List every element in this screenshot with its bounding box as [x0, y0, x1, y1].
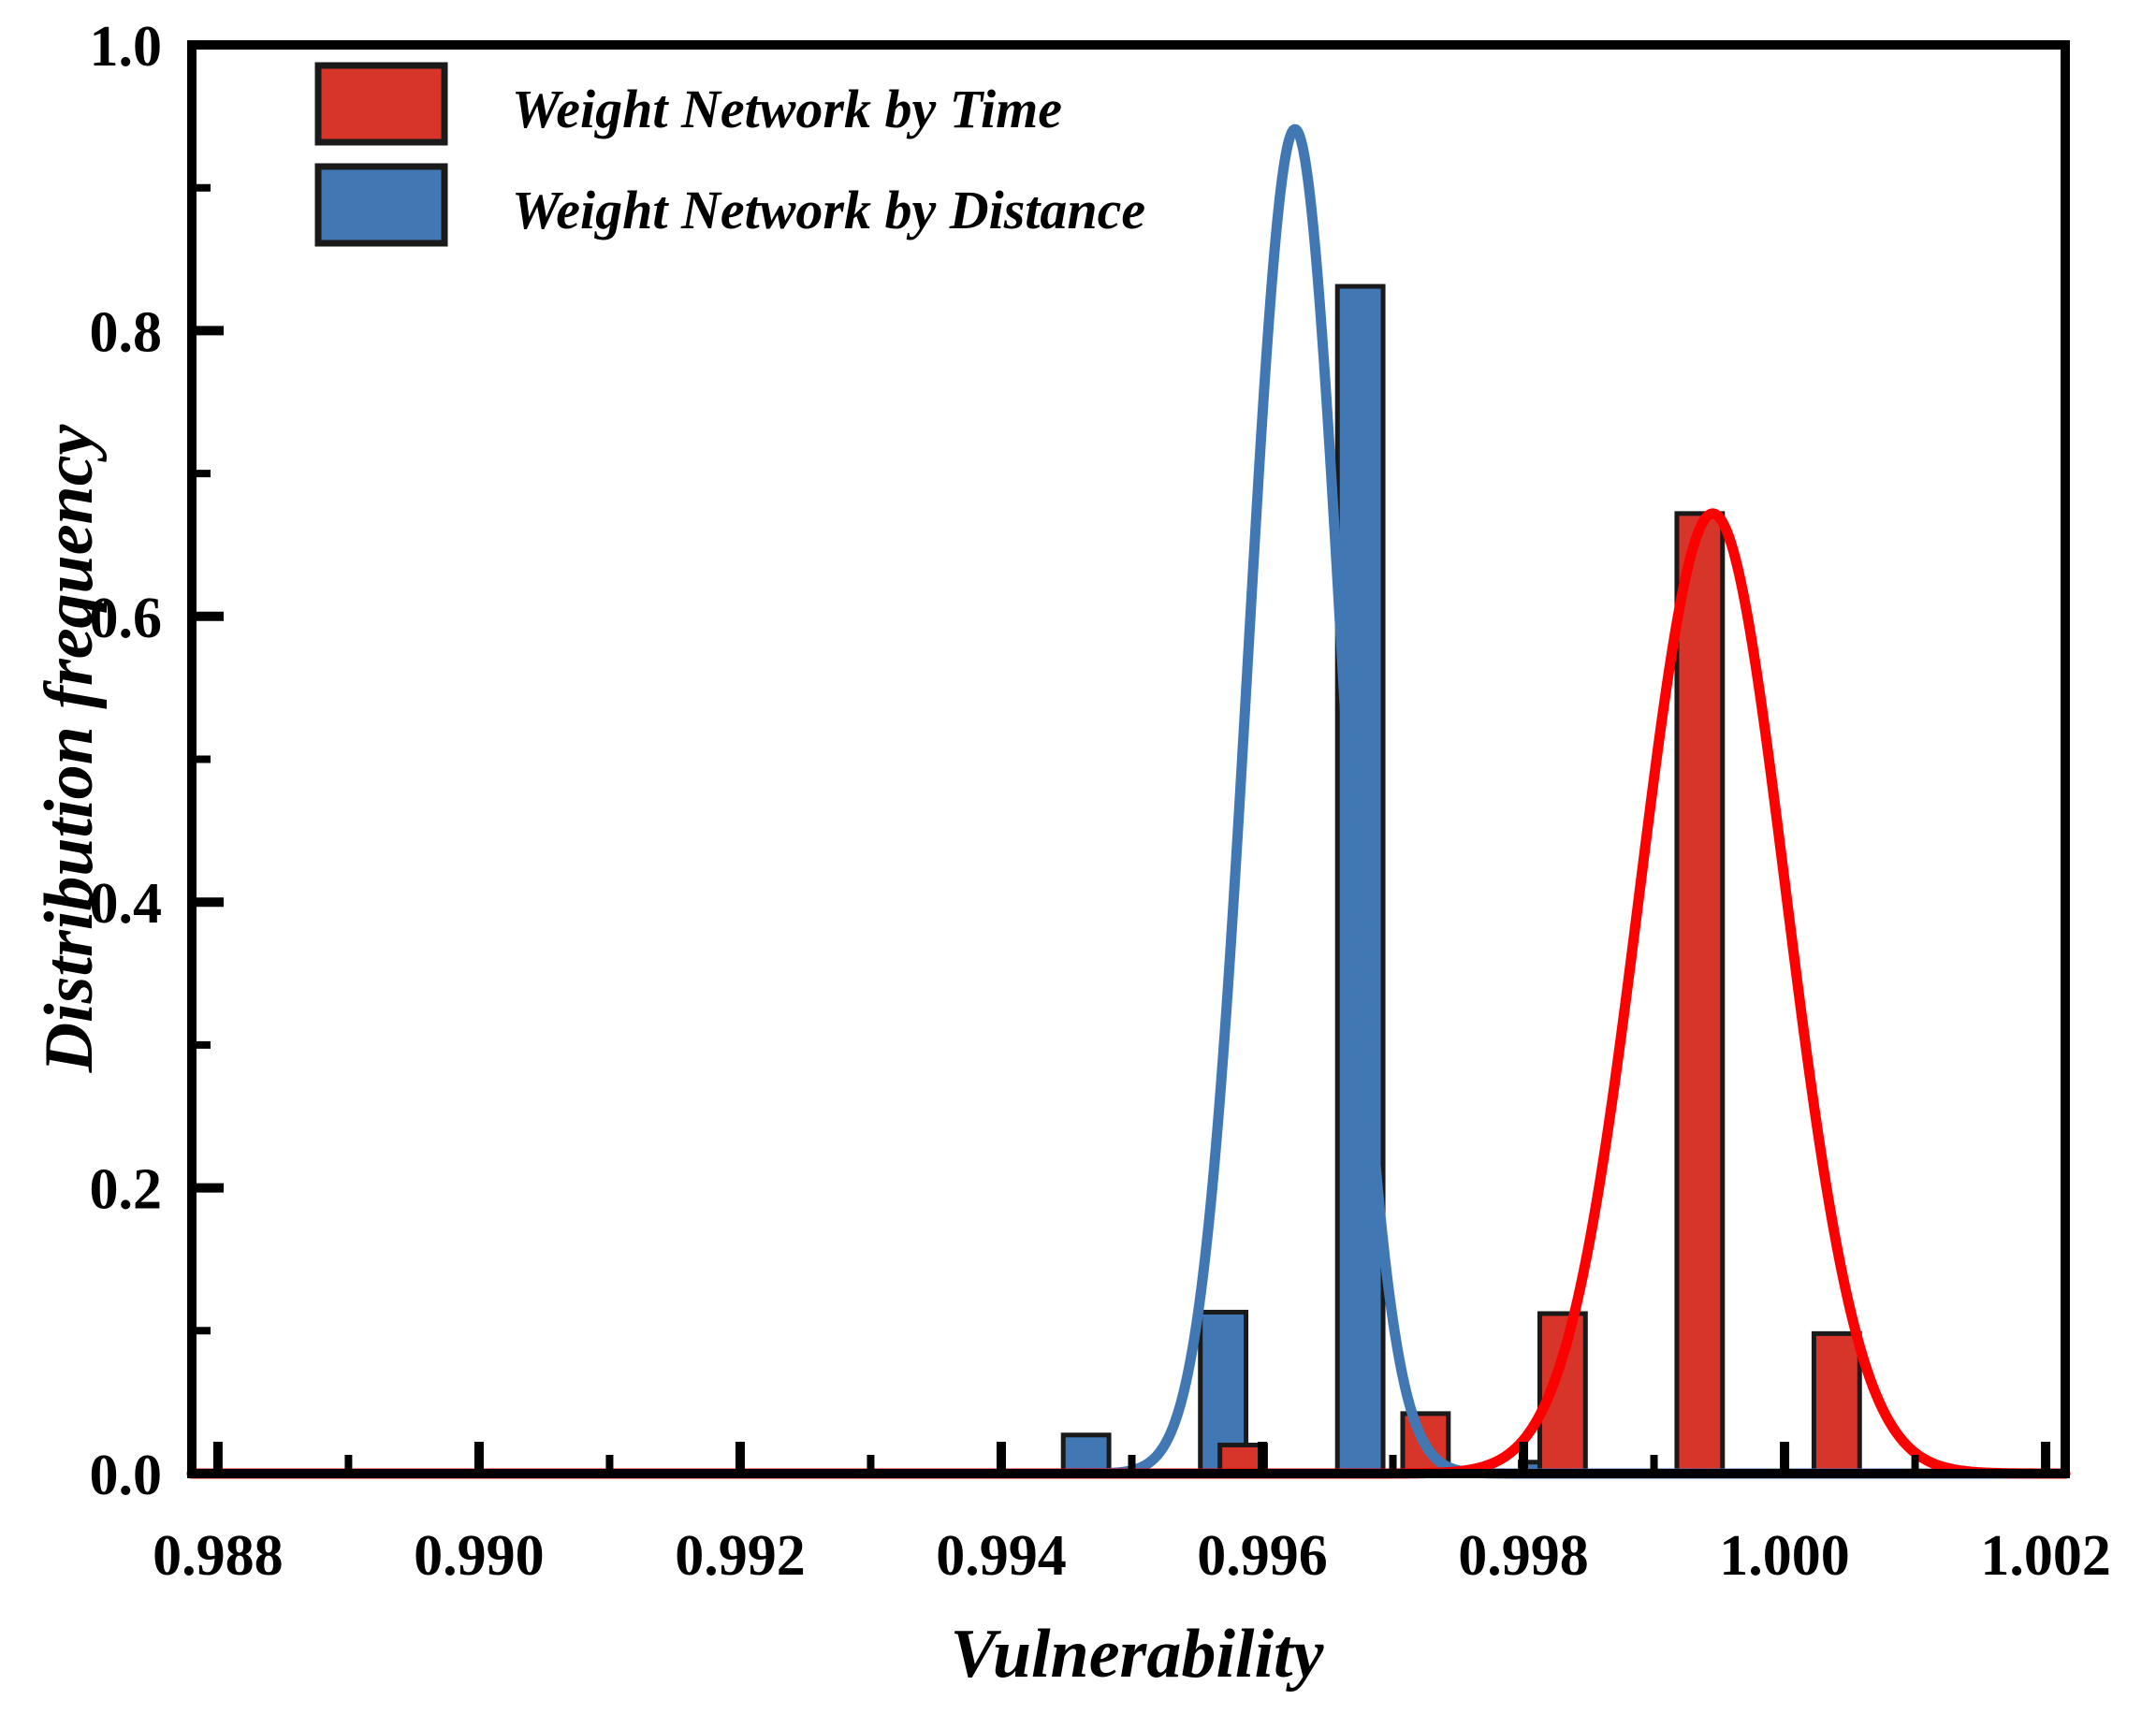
x-axis-title: Vulnerability — [951, 1616, 1325, 1693]
x-tick-label: 1.002 — [1980, 1524, 2111, 1588]
x-tick-label: 0.990 — [414, 1524, 545, 1588]
y-tick-label: 0.8 — [90, 300, 163, 364]
chart-legend: Weight Network by TimeWeight Network by … — [318, 65, 1145, 243]
legend-swatch — [318, 65, 444, 142]
legend-label: Weight Network by Time — [512, 79, 1062, 139]
y-tick-label: 1.0 — [90, 15, 163, 79]
plot-frame — [192, 45, 2065, 1474]
histogram-bar — [1063, 1435, 1109, 1474]
x-tick-label: 1.000 — [1719, 1524, 1850, 1588]
histogram-bar — [1337, 286, 1383, 1474]
histogram-bar — [1677, 514, 1723, 1474]
y-axis-title: Distribution frequency — [31, 423, 108, 1073]
y-tick-label: 0.0 — [90, 1444, 163, 1507]
legend-label: Weight Network by Distance — [512, 180, 1145, 240]
bars-weight-network-by-distance — [1063, 286, 1566, 1474]
x-tick-label: 0.998 — [1458, 1524, 1589, 1588]
x-tick-label: 0.988 — [153, 1524, 284, 1588]
x-tick-label: 0.994 — [936, 1524, 1067, 1588]
x-tick-label: 0.996 — [1197, 1524, 1328, 1588]
axis-frame — [192, 45, 2065, 1474]
legend-swatch — [318, 167, 444, 243]
gaussian-fit-curve — [192, 129, 2065, 1474]
chart-figure: 0.9880.9900.9920.9940.9960.9981.0001.002… — [0, 0, 2156, 1729]
fit-curve-weight-network-by-distance — [192, 129, 2065, 1474]
y-tick-label: 0.2 — [90, 1158, 163, 1222]
gaussian-fit-curve — [192, 514, 2065, 1474]
distribution-frequency-histogram: 0.9880.9900.9920.9940.9960.9981.0001.002… — [0, 0, 2156, 1729]
histogram-bar — [1814, 1333, 1859, 1474]
x-axis-tick-labels: 0.9880.9900.9920.9940.9960.9981.0001.002 — [153, 1524, 2111, 1588]
y-axis-ticks — [192, 45, 224, 1474]
fit-curve-weight-network-by-time — [192, 514, 2065, 1474]
x-tick-label: 0.992 — [675, 1524, 806, 1588]
bars-weight-network-by-time — [1220, 514, 1860, 1474]
